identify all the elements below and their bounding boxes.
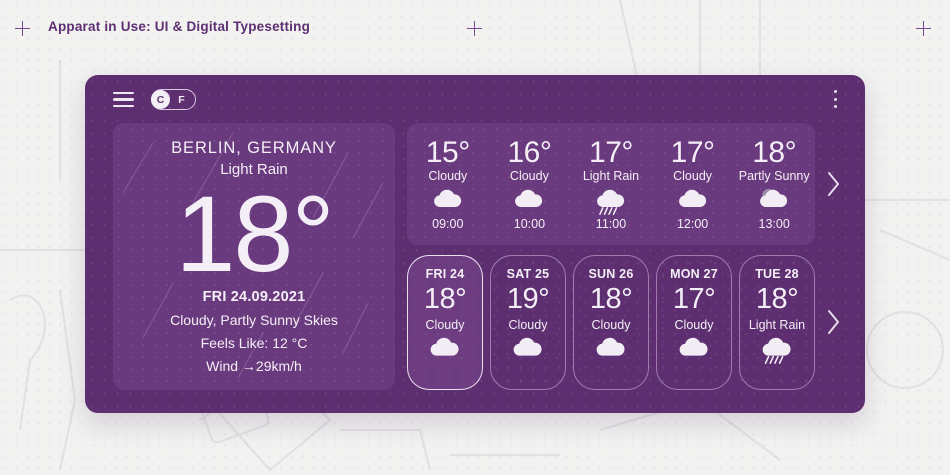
hourly-weather-icon — [570, 187, 652, 215]
unit-toggle-fahrenheit[interactable]: F — [170, 94, 195, 106]
hamburger-menu-icon[interactable] — [113, 92, 134, 107]
current-feels-like: Feels Like: 12 °C — [113, 335, 395, 351]
daily-temperature: 18° — [408, 281, 482, 317]
current-wind: Wind →29km/h — [113, 358, 395, 374]
hourly-condition: Cloudy — [652, 169, 734, 183]
current-city: BERLIN, GERMANY — [113, 139, 395, 158]
daily-forecast-panel: FRI 2418°CloudySAT 2519°CloudySUN 2618°C… — [407, 255, 815, 390]
daily-condition: Cloudy — [408, 318, 482, 332]
hourly-time: 13:00 — [733, 217, 815, 231]
hourly-forecast-item[interactable]: 16°Cloudy10:00 — [489, 137, 571, 232]
hourly-condition: Cloudy — [489, 169, 571, 183]
hourly-weather-icon — [652, 187, 734, 215]
cloud-icon — [509, 187, 549, 216]
hourly-weather-icon — [407, 187, 489, 215]
crosshair-mark-right — [916, 21, 931, 36]
daily-forecast-card[interactable]: FRI 2418°Cloudy — [407, 255, 483, 390]
hamburger-line-2 — [113, 98, 134, 100]
chevron-right-icon — [827, 171, 841, 197]
daily-day-label: FRI 24 — [408, 267, 482, 281]
daily-forecast-card[interactable]: MON 2717°Cloudy — [656, 255, 732, 390]
chevron-right-icon — [827, 309, 841, 335]
hourly-temperature: 17° — [652, 137, 734, 169]
daily-weather-icon — [740, 335, 814, 365]
kebab-menu-icon[interactable] — [827, 88, 843, 110]
crosshair-mark-center — [467, 21, 482, 36]
hourly-temperature: 16° — [489, 137, 571, 169]
app-topbar: C F — [85, 75, 865, 125]
cloud-icon — [507, 335, 549, 365]
weather-app-window: C F BERLIN, GERMANY Light Rain 18 — [85, 75, 865, 413]
kebab-dot-2 — [834, 98, 837, 101]
hourly-condition: Partly Sunny — [733, 169, 815, 183]
hourly-time: 09:00 — [407, 217, 489, 231]
hourly-weather-icon — [733, 187, 815, 215]
daily-forecast-card[interactable]: TUE 2818°Light Rain — [739, 255, 815, 390]
daily-temperature: 18° — [574, 281, 648, 317]
daily-day-label: TUE 28 — [740, 267, 814, 281]
unit-toggle-celsius[interactable]: C — [151, 90, 170, 109]
daily-temperature: 18° — [740, 281, 814, 317]
cloud-icon — [428, 187, 468, 216]
hourly-forecast-item[interactable]: 18°Partly Sunny13:00 — [733, 137, 815, 232]
hourly-condition: Cloudy — [407, 169, 489, 183]
daily-next-button[interactable] — [823, 305, 845, 339]
daily-condition: Cloudy — [574, 318, 648, 332]
daily-day-label: SAT 25 — [491, 267, 565, 281]
hamburger-line-1 — [113, 92, 134, 94]
daily-day-label: MON 27 — [657, 267, 731, 281]
hourly-forecast-item[interactable]: 17°Cloudy12:00 — [652, 137, 734, 232]
sun-cloud-icon — [754, 187, 794, 216]
daily-condition: Cloudy — [657, 318, 731, 332]
page-title: Apparat in Use: UI & Digital Typesetting — [48, 19, 310, 34]
hourly-temperature: 15° — [407, 137, 489, 169]
cloud-icon — [673, 335, 715, 365]
cloud-rain-icon — [756, 335, 798, 365]
daily-condition: Light Rain — [740, 318, 814, 332]
hourly-time: 12:00 — [652, 217, 734, 231]
cloud-icon — [673, 187, 713, 216]
current-sky-description: Cloudy, Partly Sunny Skies — [113, 312, 395, 328]
daily-temperature: 19° — [491, 281, 565, 317]
daily-weather-icon — [491, 335, 565, 365]
cloud-rain-icon — [591, 187, 631, 216]
hourly-forecast-item[interactable]: 15°Cloudy09:00 — [407, 137, 489, 232]
hourly-time: 11:00 — [570, 217, 652, 231]
daily-weather-icon — [408, 335, 482, 365]
current-date: FRI 24.09.2021 — [113, 289, 395, 305]
daily-condition: Cloudy — [491, 318, 565, 332]
hourly-weather-icon — [489, 187, 571, 215]
hourly-forecast-item[interactable]: 17°Light Rain11:00 — [570, 137, 652, 232]
kebab-dot-1 — [834, 90, 837, 93]
current-temperature: 18° — [113, 174, 395, 295]
hourly-condition: Light Rain — [570, 169, 652, 183]
daily-weather-icon — [657, 335, 731, 365]
hourly-temperature: 18° — [733, 137, 815, 169]
daily-temperature: 17° — [657, 281, 731, 317]
daily-forecast-card[interactable]: SUN 2618°Cloudy — [573, 255, 649, 390]
daily-weather-icon — [574, 335, 648, 365]
daily-forecast-card[interactable]: SAT 2519°Cloudy — [490, 255, 566, 390]
hourly-forecast-panel: 15°Cloudy09:0016°Cloudy10:0017°Light Rai… — [407, 123, 815, 245]
daily-day-label: SUN 26 — [574, 267, 648, 281]
hourly-temperature: 17° — [570, 137, 652, 169]
hourly-next-button[interactable] — [823, 167, 845, 201]
cloud-icon — [590, 335, 632, 365]
unit-toggle[interactable]: C F — [151, 89, 196, 110]
crosshair-mark-left — [15, 21, 30, 36]
current-conditions-panel: BERLIN, GERMANY Light Rain 18° FRI 24.09… — [113, 123, 395, 390]
hamburger-line-3 — [113, 105, 134, 107]
kebab-dot-3 — [834, 105, 837, 108]
hourly-time: 10:00 — [489, 217, 571, 231]
cloud-icon — [424, 335, 466, 365]
